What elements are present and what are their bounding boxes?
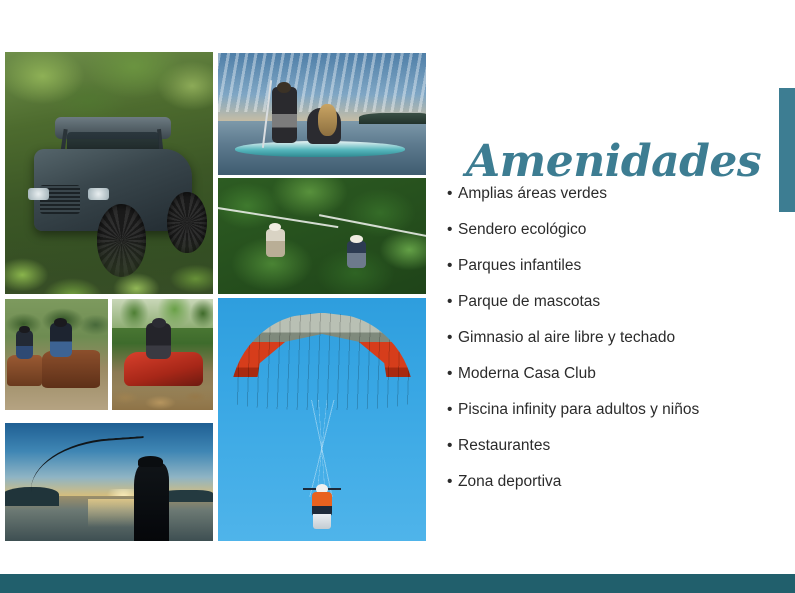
list-item: Restaurantes — [447, 438, 777, 454]
page-title: Amenidades — [466, 139, 761, 185]
list-item: Piscina infinity para adultos y niños — [447, 402, 777, 418]
amenities-list: Amplias áreas verdes Sendero ecológico P… — [447, 186, 777, 510]
slide-amenities: Amenidades Amplias áreas verdes Sendero … — [0, 0, 795, 593]
photo-utv-offroad — [5, 52, 213, 294]
list-item: Moderna Casa Club — [447, 366, 777, 382]
accent-bar-right — [779, 88, 795, 212]
photo-paddleboard — [218, 53, 426, 175]
list-item: Gimnasio al aire libre y techado — [447, 330, 777, 346]
footer-bar — [0, 574, 795, 593]
list-item: Amplias áreas verdes — [447, 186, 777, 202]
photo-horseback — [5, 299, 108, 410]
photo-paragliding — [218, 298, 426, 541]
photo-zipline — [218, 178, 426, 294]
photo-fishing — [5, 423, 213, 541]
list-item: Parque de mascotas — [447, 294, 777, 310]
list-item: Zona deportiva — [447, 474, 777, 490]
list-item: Sendero ecológico — [447, 222, 777, 238]
list-item: Parques infantiles — [447, 258, 777, 274]
photo-atv — [112, 299, 213, 410]
